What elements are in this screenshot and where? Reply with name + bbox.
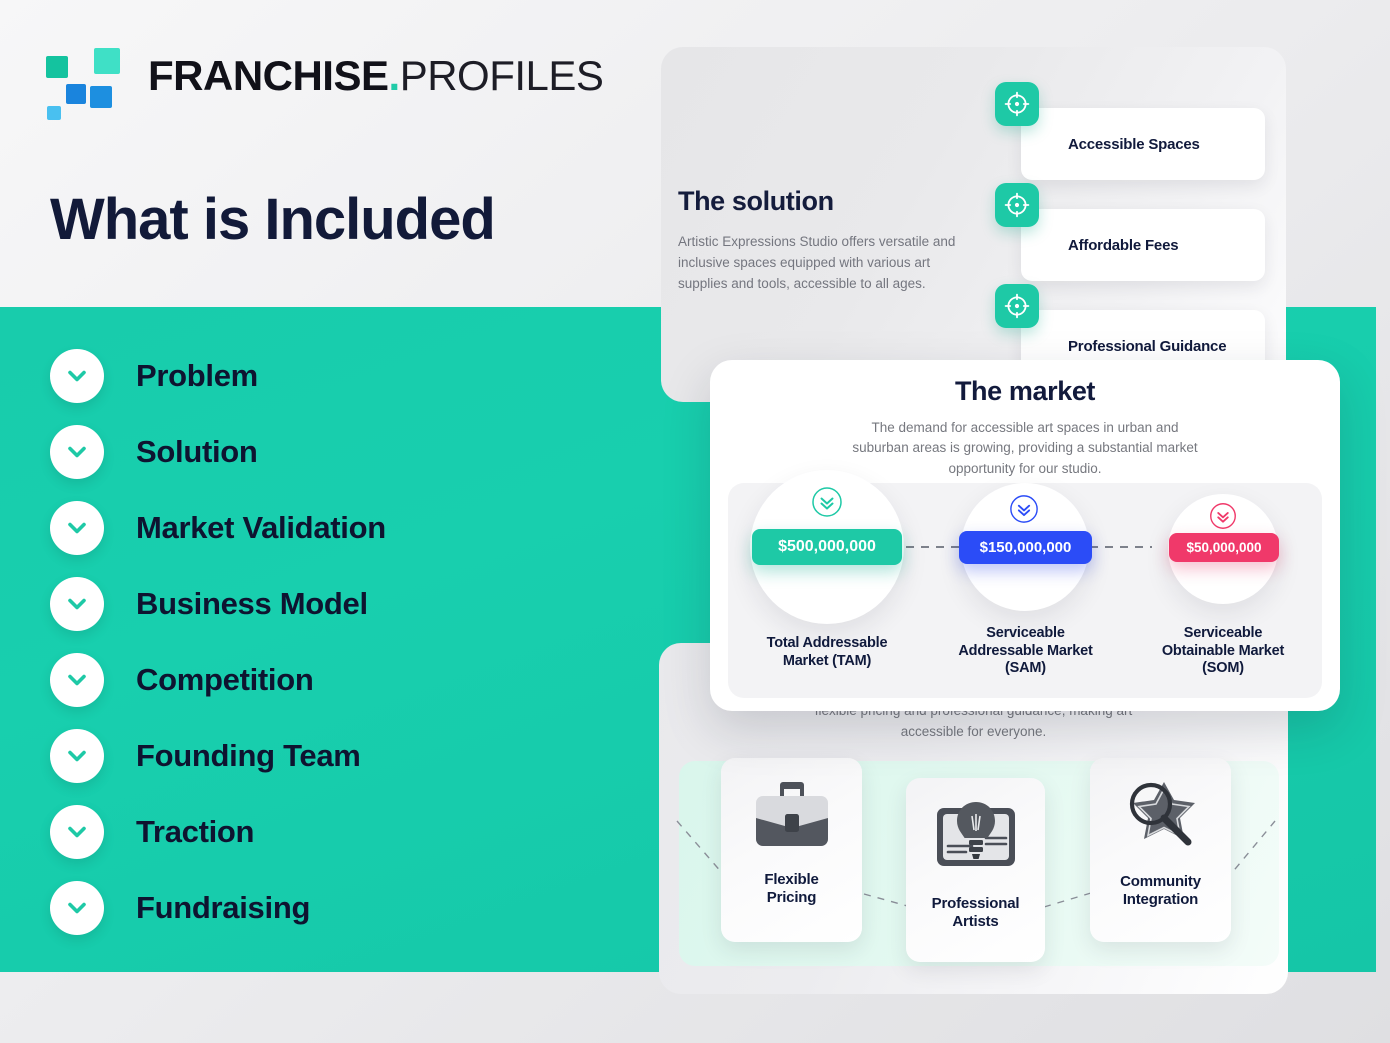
caption-line1: Community [1120, 873, 1201, 891]
toc-item-solution[interactable]: Solution [50, 424, 570, 479]
chevron-down-icon [50, 805, 104, 859]
toc-item-label: Solution [136, 434, 258, 470]
caption-line2: Addressable Market [938, 643, 1113, 661]
caption-line1: Serviceable [938, 625, 1113, 643]
caption-line2: Artists [932, 913, 1020, 931]
five-squares-logo-icon [46, 48, 104, 104]
chevron-down-icon [50, 425, 104, 479]
caption-line2: Obtainable Market [1137, 643, 1309, 661]
chevron-down-icon [50, 729, 104, 783]
bubble-caption-sam: Serviceable Addressable Market (SAM) [938, 625, 1113, 678]
target-crosshair-icon [995, 183, 1039, 227]
toc-item-label: Competition [136, 662, 314, 698]
chevron-down-icon [50, 881, 104, 935]
traction-card-professional-artists[interactable]: Professional Artists [906, 778, 1045, 962]
solution-feature-list: Accessible Spaces Affordable Fees [995, 82, 1265, 385]
traction-card-caption: Professional Artists [932, 895, 1020, 932]
chevron-down-icon [50, 653, 104, 707]
solution-title: The solution [678, 186, 978, 217]
toc-item-label: Traction [136, 814, 254, 850]
page-title: What is Included [50, 186, 495, 253]
feature-card: Accessible Spaces [1021, 108, 1265, 180]
caption-line2: Integration [1120, 891, 1201, 909]
caption-line1: Total Addressable [742, 635, 912, 653]
chevron-down-icon [50, 577, 104, 631]
chevron-down-icon [50, 349, 104, 403]
slide-canvas: FRANCHISE.PROFILES What is Included Prob… [0, 0, 1390, 1043]
bubble-caption-som: Serviceable Obtainable Market (SOM) [1137, 625, 1309, 678]
feature-label: Professional Guidance [1068, 338, 1226, 355]
caption-line1: Serviceable [1137, 625, 1309, 643]
toc-item-traction[interactable]: Traction [50, 804, 570, 859]
double-chevron-down-icon [1009, 494, 1039, 524]
market-slide-preview[interactable]: The market The demand for accessible art… [710, 360, 1340, 711]
toc-item-market-validation[interactable]: Market Validation [50, 500, 570, 555]
caption-line3: (SOM) [1137, 660, 1309, 678]
toc-item-competition[interactable]: Competition [50, 652, 570, 707]
solution-slide-preview[interactable]: The solution Artistic Expressions Studio… [661, 47, 1286, 402]
chevron-down-icon [50, 501, 104, 555]
toc-item-founding-team[interactable]: Founding Team [50, 728, 570, 783]
market-title: The market [710, 376, 1340, 407]
market-description-line1: The demand for accessible art spaces in … [710, 418, 1340, 438]
traction-card-caption: Community Integration [1120, 873, 1201, 910]
toc-item-label: Market Validation [136, 510, 386, 546]
double-chevron-down-icon [811, 486, 843, 518]
target-crosshair-icon [995, 82, 1039, 126]
double-chevron-down-icon [1209, 502, 1237, 530]
bubble-value-pill: $150,000,000 [959, 531, 1092, 564]
toc-item-label: Founding Team [136, 738, 361, 774]
toc-item-fundraising[interactable]: Fundraising [50, 880, 570, 935]
toc-item-label: Fundraising [136, 890, 310, 926]
brand-word-light: PROFILES [400, 52, 604, 99]
caption-line1: Professional [932, 895, 1020, 913]
bubble-value-pill: $50,000,000 [1169, 533, 1279, 562]
feature-label: Affordable Fees [1068, 237, 1178, 254]
brand-wordmark: FRANCHISE.PROFILES [148, 55, 603, 97]
brand-word-bold: FRANCHISE [148, 52, 389, 99]
toc-item-label: Business Model [136, 586, 368, 622]
bubble-caption-tam: Total Addressable Market (TAM) [742, 635, 912, 670]
solution-feature-accessible-spaces[interactable]: Accessible Spaces [995, 82, 1265, 183]
traction-card-flexible-pricing[interactable]: Flexible Pricing [721, 758, 862, 942]
brand-dot: . [389, 52, 400, 99]
briefcase-icon [748, 776, 836, 859]
caption-line2: Pricing [764, 889, 818, 907]
traction-card-caption: Flexible Pricing [764, 871, 818, 908]
table-of-contents: Problem Solution Market Validation Busin… [50, 348, 570, 956]
brand-logo[interactable]: FRANCHISE.PROFILES [46, 48, 603, 104]
feature-label: Accessible Spaces [1068, 136, 1200, 153]
target-crosshair-icon [995, 284, 1039, 328]
tam-sam-som-chart: $500,000,000 Total Addressable Market (T… [710, 465, 1340, 705]
solution-feature-affordable-fees[interactable]: Affordable Fees [995, 183, 1265, 284]
traction-card-community-integration[interactable]: Community Integration [1090, 758, 1231, 942]
toc-item-business-model[interactable]: Business Model [50, 576, 570, 631]
market-description-line2: suburban areas is growing, providing a s… [710, 438, 1340, 458]
award-magnifier-icon [1112, 776, 1210, 861]
caption-line3: (SAM) [938, 660, 1113, 678]
bubble-value-pill: $500,000,000 [752, 529, 902, 565]
caption-line1: Flexible [764, 871, 818, 889]
solution-description: Artistic Expressions Studio offers versa… [678, 232, 978, 295]
feature-card: Affordable Fees [1021, 209, 1265, 281]
toc-item-problem[interactable]: Problem [50, 348, 570, 403]
lightbulb-presentation-icon [928, 796, 1024, 883]
caption-line2: Market (TAM) [742, 653, 912, 671]
toc-item-label: Problem [136, 358, 258, 394]
solution-heading-block: The solution Artistic Expressions Studio… [678, 186, 978, 295]
